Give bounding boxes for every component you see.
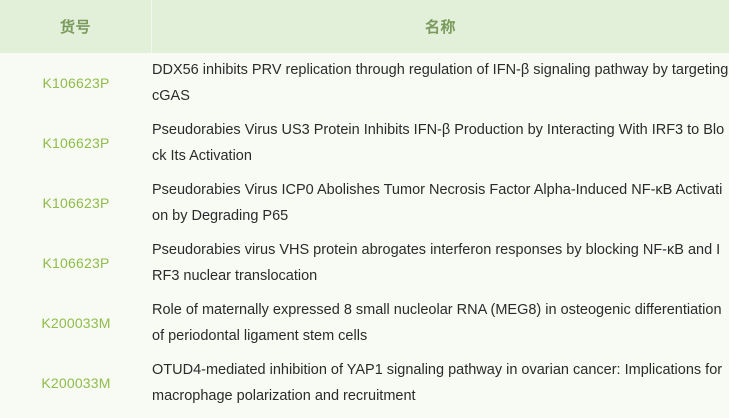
- table-row[interactable]: K106623P DDX56 inhibits PRV replication …: [0, 53, 729, 113]
- cell-name: Pseudorabies Virus US3 Protein Inhibits …: [152, 117, 729, 169]
- cell-name: Pseudorabies virus VHS protein abrogates…: [152, 237, 729, 289]
- cell-name: Role of maternally expressed 8 small nuc…: [152, 297, 729, 349]
- table-header-row: 货号 名称: [0, 0, 729, 53]
- cell-code: K106623P: [0, 195, 152, 211]
- cell-name: OTUD4-mediated inhibition of YAP1 signal…: [152, 357, 729, 409]
- cell-code: K200033M: [0, 375, 152, 391]
- cell-code: K200033M: [0, 315, 152, 331]
- cell-name: DDX56 inhibits PRV replication through r…: [152, 57, 729, 109]
- cell-name: Pseudorabies Virus ICP0 Abolishes Tumor …: [152, 177, 729, 229]
- table-row[interactable]: K200033M OTUD4-mediated inhibition of YA…: [0, 353, 729, 413]
- literature-table: 货号 名称 K106623P DDX56 inhibits PRV replic…: [0, 0, 729, 418]
- table-row[interactable]: K200033M Role of maternally expressed 8 …: [0, 293, 729, 353]
- cell-code: K106623P: [0, 135, 152, 151]
- cell-code: K106623P: [0, 75, 152, 91]
- table-body: K106623P DDX56 inhibits PRV replication …: [0, 53, 729, 418]
- table-row[interactable]: K106623P Pseudorabies Virus US3 Protein …: [0, 113, 729, 173]
- column-header-name: 名称: [152, 0, 729, 53]
- table-row[interactable]: K106623P Pseudorabies Virus ICP0 Abolish…: [0, 173, 729, 233]
- cell-code: K106623P: [0, 255, 152, 271]
- table-row[interactable]: K106623P Pseudorabies virus VHS protein …: [0, 233, 729, 293]
- column-header-code: 货号: [0, 0, 152, 53]
